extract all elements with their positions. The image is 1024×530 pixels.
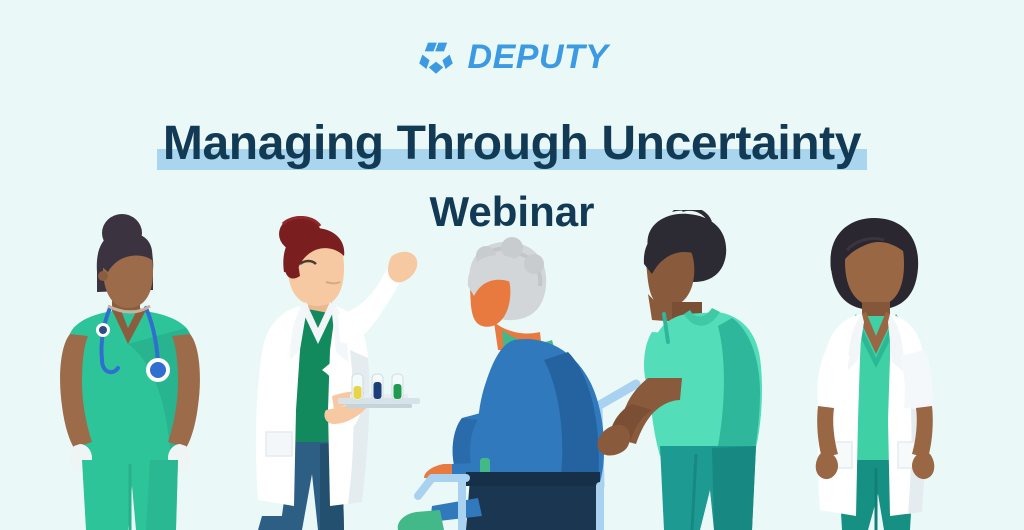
figure-elderly-patient-wheelchair	[398, 237, 636, 530]
healthcare-workers-illustration	[0, 210, 1024, 530]
figure-caregiver-pushing	[598, 210, 762, 530]
webinar-banner: DEPUTY Managing Through Uncertainty Webi…	[0, 0, 1024, 530]
figure-doctor-lab-coat	[816, 218, 935, 530]
brand-wordmark: DEPUTY	[468, 40, 609, 74]
figure-lab-scientist	[256, 216, 420, 530]
page-title: Managing Through Uncertainty	[163, 112, 861, 175]
brand-logo: DEPUTY	[0, 36, 1024, 78]
headline-wrap: Managing Through Uncertainty	[0, 112, 1024, 175]
deputy-pentagon-logo-icon	[416, 37, 456, 77]
figure-nurse-scrubs	[60, 214, 200, 530]
